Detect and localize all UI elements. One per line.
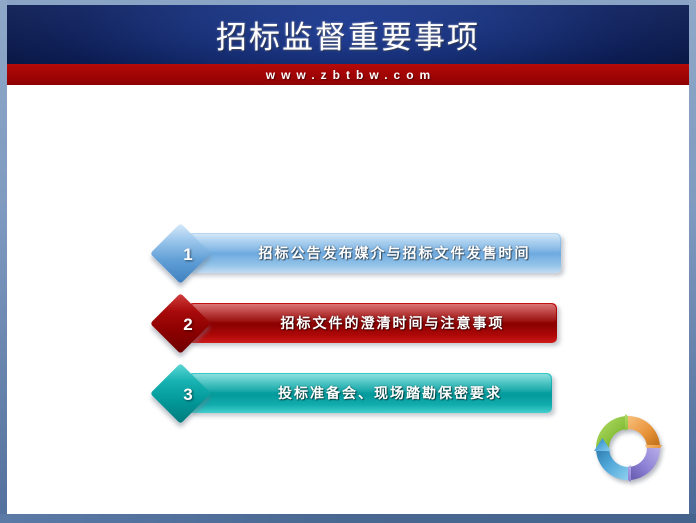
slide-frame-right <box>689 0 696 523</box>
title-band: 招标监督重要事项 <box>7 5 689 64</box>
agenda-item-3-number: 3 <box>158 365 218 425</box>
agenda-item-1-number: 1 <box>158 225 218 285</box>
url-band: www.zbtbw.com <box>7 64 689 85</box>
slide-frame-left <box>0 0 7 523</box>
agenda-item-1-bar[interactable]: 招标公告发布媒介与招标文件发售时间 <box>188 233 561 273</box>
website-url: www.zbtbw.com <box>260 68 436 82</box>
agenda-item-2-label: 招标文件的澄清时间与注意事项 <box>188 303 557 343</box>
agenda-item-2-number: 2 <box>158 295 218 355</box>
agenda-item-1[interactable]: 招标公告发布媒介与招标文件发售时间 1 <box>158 225 568 281</box>
slide-title: 招标监督重要事项 <box>216 12 480 57</box>
slide-body: 招标公告发布媒介与招标文件发售时间 1 招标文件的澄清时间与注意事项 2 投标准… <box>7 85 689 514</box>
agenda-item-2-bar[interactable]: 招标文件的澄清时间与注意事项 <box>188 303 557 343</box>
agenda-item-3-bar[interactable]: 投标准备会、现场踏勘保密要求 <box>188 373 552 413</box>
cycle-arrows-logo <box>592 412 664 484</box>
presentation-slide: 招标监督重要事项 www.zbtbw.com 招标公告发布媒介与招标文件发售时间… <box>0 0 696 523</box>
agenda-item-2[interactable]: 招标文件的澄清时间与注意事项 2 <box>158 295 568 351</box>
agenda-item-1-label: 招标公告发布媒介与招标文件发售时间 <box>188 233 561 273</box>
agenda-item-3[interactable]: 投标准备会、现场踏勘保密要求 3 <box>158 365 568 421</box>
cycle-arrow-blue <box>594 438 628 480</box>
agenda-item-3-label: 投标准备会、现场踏勘保密要求 <box>188 373 552 413</box>
slide-frame-bottom <box>0 514 696 523</box>
